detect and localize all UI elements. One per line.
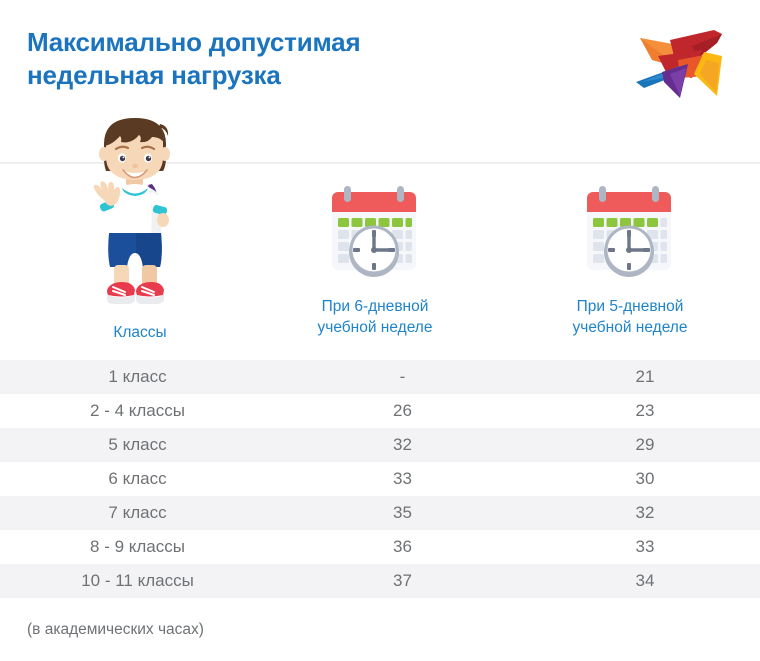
cell-six-day: 32	[275, 428, 530, 462]
cell-grade: 1 класс	[0, 360, 275, 394]
calendar-clock-icon-five-day	[577, 178, 681, 282]
cell-six-day: 26	[275, 394, 530, 428]
cell-five-day: 29	[530, 428, 760, 462]
cell-five-day: 21	[530, 360, 760, 394]
footnote: (в академических часах)	[27, 621, 204, 639]
cell-five-day: 34	[530, 564, 760, 598]
page-title-line1: Максимально допустимая	[27, 27, 360, 57]
cell-six-day: -	[275, 360, 530, 394]
table-row: 2 - 4 классы 26 23	[0, 394, 760, 428]
column-header-classes: Классы	[45, 322, 235, 343]
cell-five-day: 23	[530, 394, 760, 428]
infographic-page: Максимально допустимая недельная нагрузк…	[0, 0, 760, 661]
table-row: 8 - 9 классы 36 33	[0, 530, 760, 564]
column-header-five-day-line2: учебной неделе	[573, 319, 688, 336]
table-row: 6 класс 33 30	[0, 462, 760, 496]
column-header-six-day-line1: При 6-дневной	[322, 298, 429, 315]
column-header-six-day-line2: учебной неделе	[318, 319, 433, 336]
table-row: 10 - 11 классы 37 34	[0, 564, 760, 598]
cell-five-day: 33	[530, 530, 760, 564]
calendar-clock-icon-six-day	[322, 178, 426, 282]
cell-grade: 8 - 9 классы	[0, 530, 275, 564]
swallow-bird-logo	[618, 16, 738, 104]
workload-table: 1 класс - 21 2 - 4 классы 26 23 5 класс …	[0, 360, 760, 598]
column-headers: При 6-дневной учебной неделе При 5-дневн…	[0, 175, 760, 360]
cell-grade: 7 класс	[0, 496, 275, 530]
cell-six-day: 33	[275, 462, 530, 496]
cell-grade: 2 - 4 классы	[0, 394, 275, 428]
cell-six-day: 36	[275, 530, 530, 564]
cell-grade: 6 класс	[0, 462, 275, 496]
cell-grade: 5 класс	[0, 428, 275, 462]
column-header-six-day: При 6-дневной учебной неделе	[285, 296, 465, 338]
column-header-five-day: При 5-дневной учебной неделе	[540, 296, 720, 338]
cell-grade: 10 - 11 классы	[0, 564, 275, 598]
cell-five-day: 30	[530, 462, 760, 496]
cell-five-day: 32	[530, 496, 760, 530]
page-title: Максимально допустимая недельная нагрузк…	[27, 26, 547, 92]
column-header-five-day-line1: При 5-дневной	[577, 298, 684, 315]
page-title-line2: недельная нагрузка	[27, 59, 547, 92]
table-row: 7 класс 35 32	[0, 496, 760, 530]
table-row: 5 класс 32 29	[0, 428, 760, 462]
cell-six-day: 37	[275, 564, 530, 598]
cell-six-day: 35	[275, 496, 530, 530]
table-row: 1 класс - 21	[0, 360, 760, 394]
